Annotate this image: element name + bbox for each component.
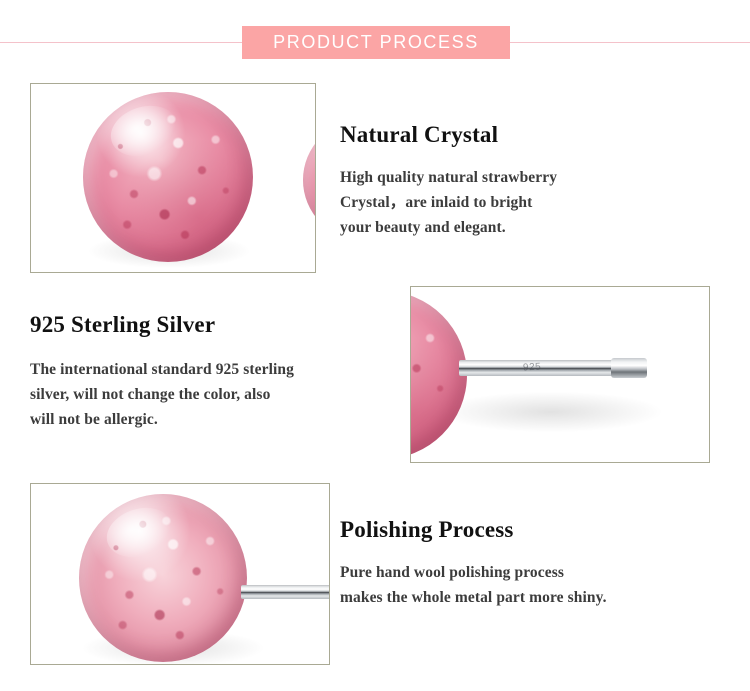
silver-post	[241, 585, 330, 599]
crystal-sphere-partial	[303, 120, 316, 240]
crystal-sphere-polished	[79, 494, 247, 662]
section-title-sterling-silver: 925 Sterling Silver	[30, 312, 215, 338]
crystal-sphere-main	[83, 92, 253, 262]
body-line: Crystal，are inlaid to bright	[340, 190, 557, 215]
body-line: The international standard 925 sterling	[30, 357, 294, 382]
product-process-banner: PRODUCT PROCESS	[242, 26, 510, 59]
body-line: High quality natural strawberry	[340, 165, 557, 190]
section-title-polishing-process: Polishing Process	[340, 517, 514, 543]
section-header: PRODUCT PROCESS	[0, 0, 750, 72]
body-line: makes the whole metal part more shiny.	[340, 585, 607, 610]
banner-label: PRODUCT PROCESS	[273, 32, 479, 53]
product-image-sterling-silver: 925	[410, 286, 710, 463]
body-line: silver, will not change the color, also	[30, 382, 294, 407]
body-line: your beauty and elegant.	[340, 215, 557, 240]
silver-post-cap	[611, 358, 647, 378]
product-image-polishing-process	[30, 483, 330, 665]
body-line: Pure hand wool polishing process	[340, 560, 607, 585]
section-body-natural-crystal: High quality natural strawberry Crystal，…	[340, 165, 557, 240]
post-shadow	[441, 392, 661, 432]
product-image-natural-crystal	[30, 83, 316, 273]
section-body-polishing-process: Pure hand wool polishing process makes t…	[340, 560, 607, 610]
silver-925-stamp: 925	[523, 362, 542, 374]
body-line: will not be allergic.	[30, 407, 294, 432]
section-title-natural-crystal: Natural Crystal	[340, 122, 498, 148]
section-body-sterling-silver: The international standard 925 sterling …	[30, 357, 294, 432]
